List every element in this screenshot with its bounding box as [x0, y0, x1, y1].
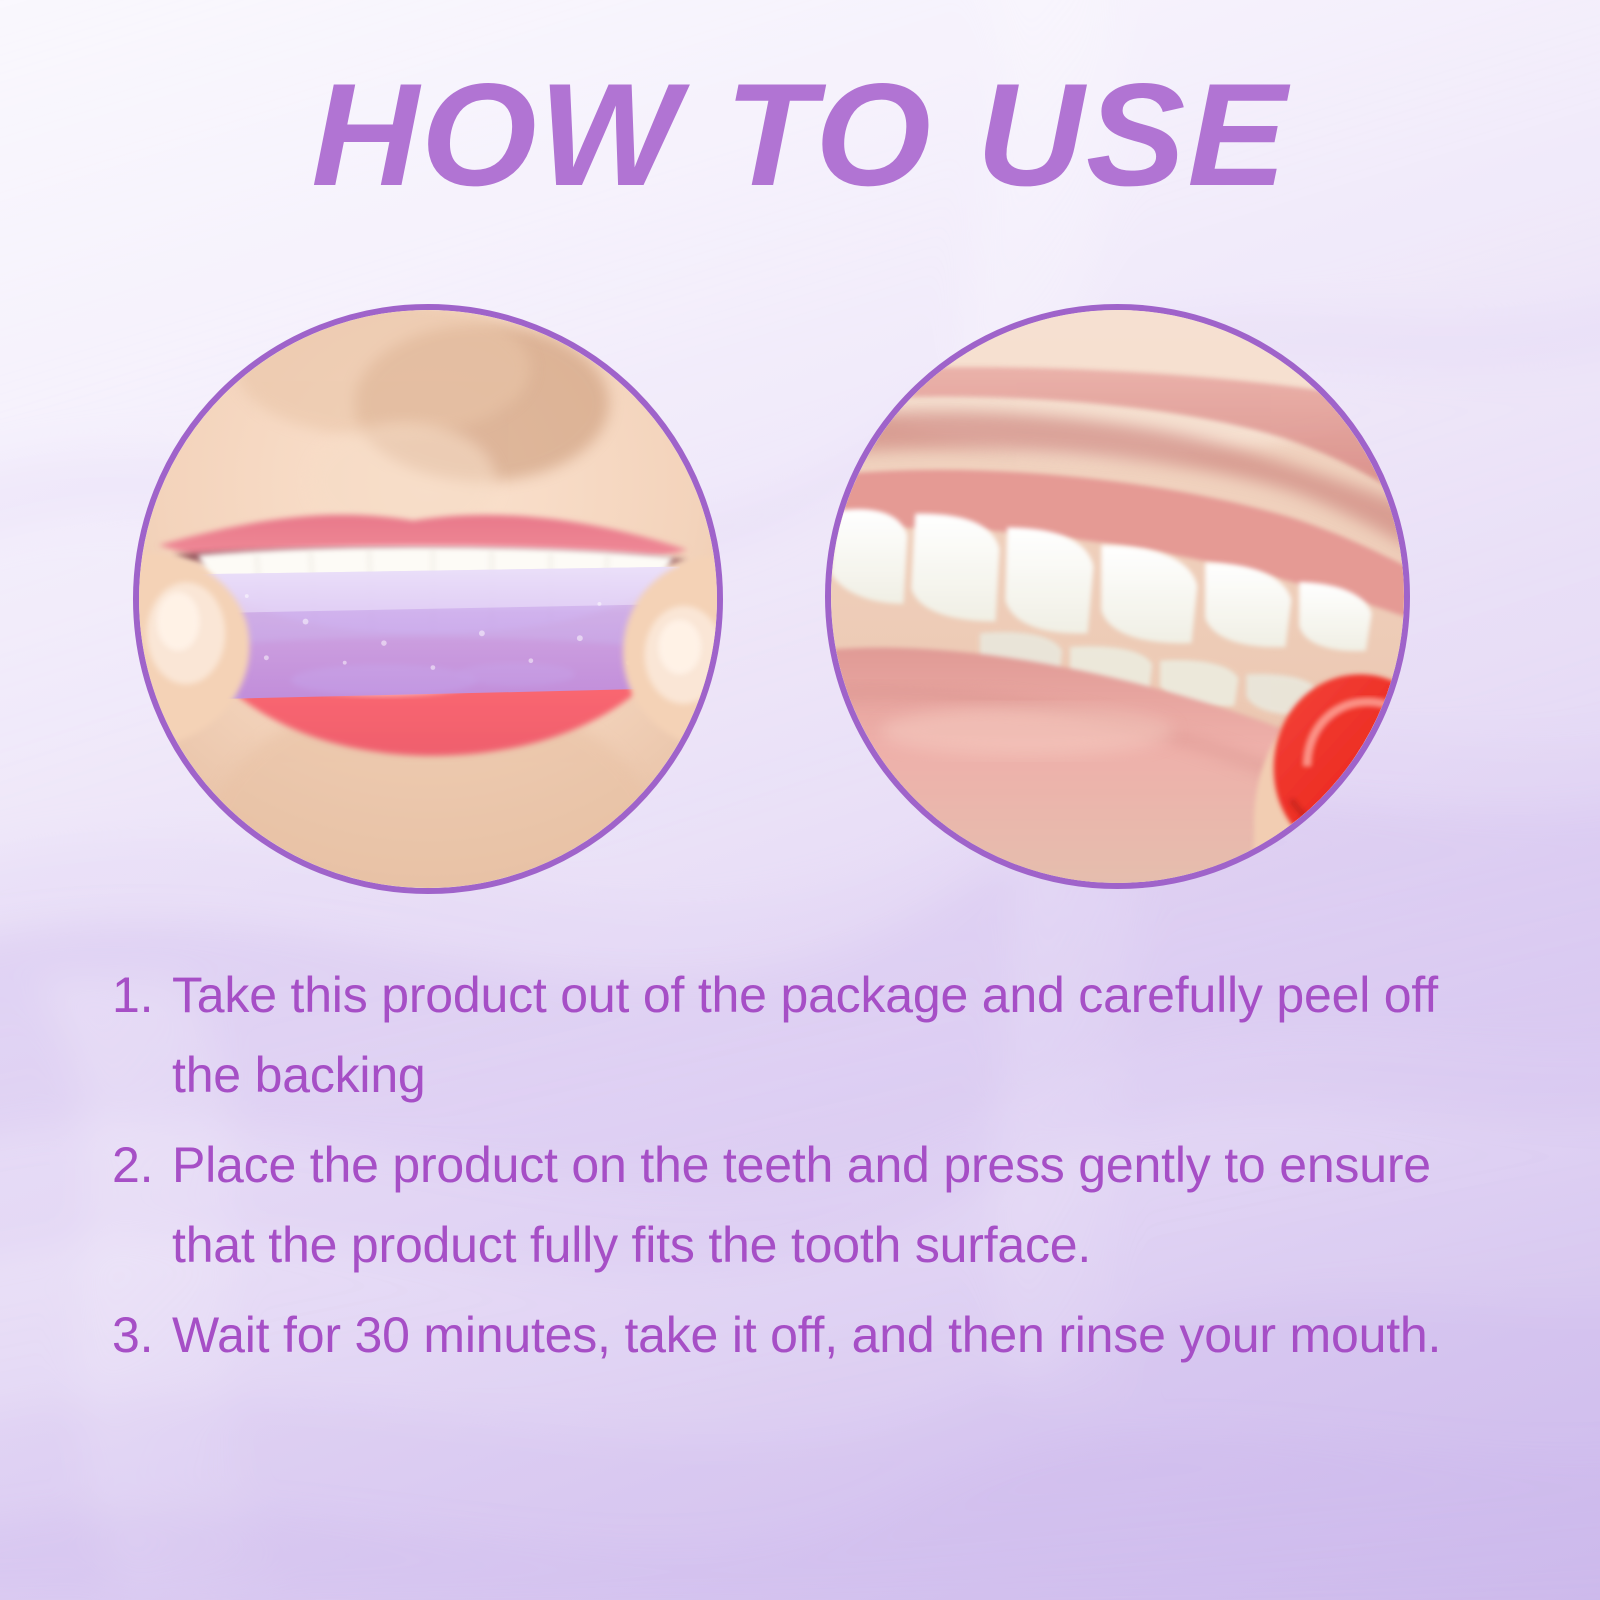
peel-backing-photo-image: [139, 310, 717, 888]
instruction-step: 3. Wait for 30 minutes, take it off, and…: [112, 1295, 1512, 1375]
step-number: 2.: [112, 1125, 172, 1285]
apply-strip-photo-image: [831, 310, 1404, 883]
apply-strip-photo: [825, 304, 1410, 889]
step-text: Place the product on the teeth and press…: [172, 1125, 1512, 1285]
peel-backing-photo: [133, 304, 723, 894]
step-number: 3.: [112, 1295, 172, 1375]
step-text: Wait for 30 minutes, take it off, and th…: [172, 1295, 1512, 1375]
instruction-step: 1. Take this product out of the package …: [112, 955, 1512, 1115]
instruction-step: 2. Place the product on the teeth and pr…: [112, 1125, 1512, 1285]
step-text: Take this product out of the package and…: [172, 955, 1512, 1115]
step-number: 1.: [112, 955, 172, 1115]
page-title: HOW TO USE: [0, 62, 1600, 208]
instruction-steps: 1. Take this product out of the package …: [112, 955, 1512, 1385]
how-to-use-poster: HOW TO USE: [0, 0, 1600, 1600]
